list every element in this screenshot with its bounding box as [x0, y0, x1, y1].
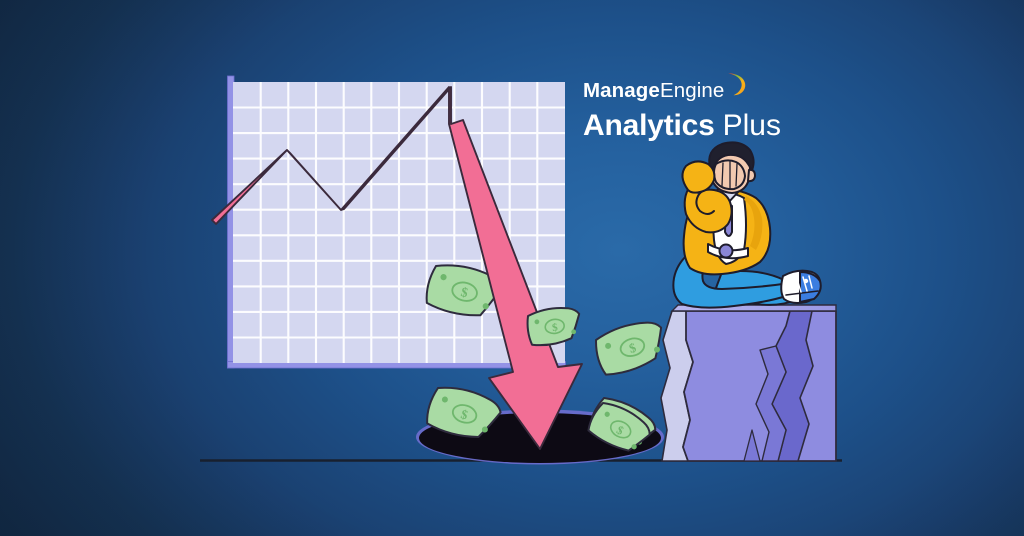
character-belt-buckle: [720, 245, 733, 258]
brand-lockup: ManageEngine AnalyticsPlus: [583, 80, 781, 141]
character-arm-left: [682, 161, 714, 192]
manageengine-swoosh-icon: [725, 71, 747, 102]
cliff-block: [661, 305, 836, 461]
illustration-canvas: $ $ $: [0, 0, 1024, 536]
scene-svg: $ $ $: [0, 0, 1024, 536]
character-shoe: [781, 271, 821, 303]
brand-manage-text: Manage: [583, 81, 660, 102]
distressed-businessman: [673, 142, 820, 307]
brand-line-product: AnalyticsPlus: [583, 111, 781, 141]
brand-analytics-text: Analytics: [583, 109, 715, 142]
brand-engine-text: Engine: [660, 81, 724, 102]
cliff-face: [683, 311, 836, 461]
dollar-bill-icon: $: [592, 317, 670, 378]
character-ear: [748, 170, 755, 181]
brand-line-manageengine: ManageEngine: [583, 80, 781, 102]
brand-plus-text: Plus: [723, 109, 781, 142]
